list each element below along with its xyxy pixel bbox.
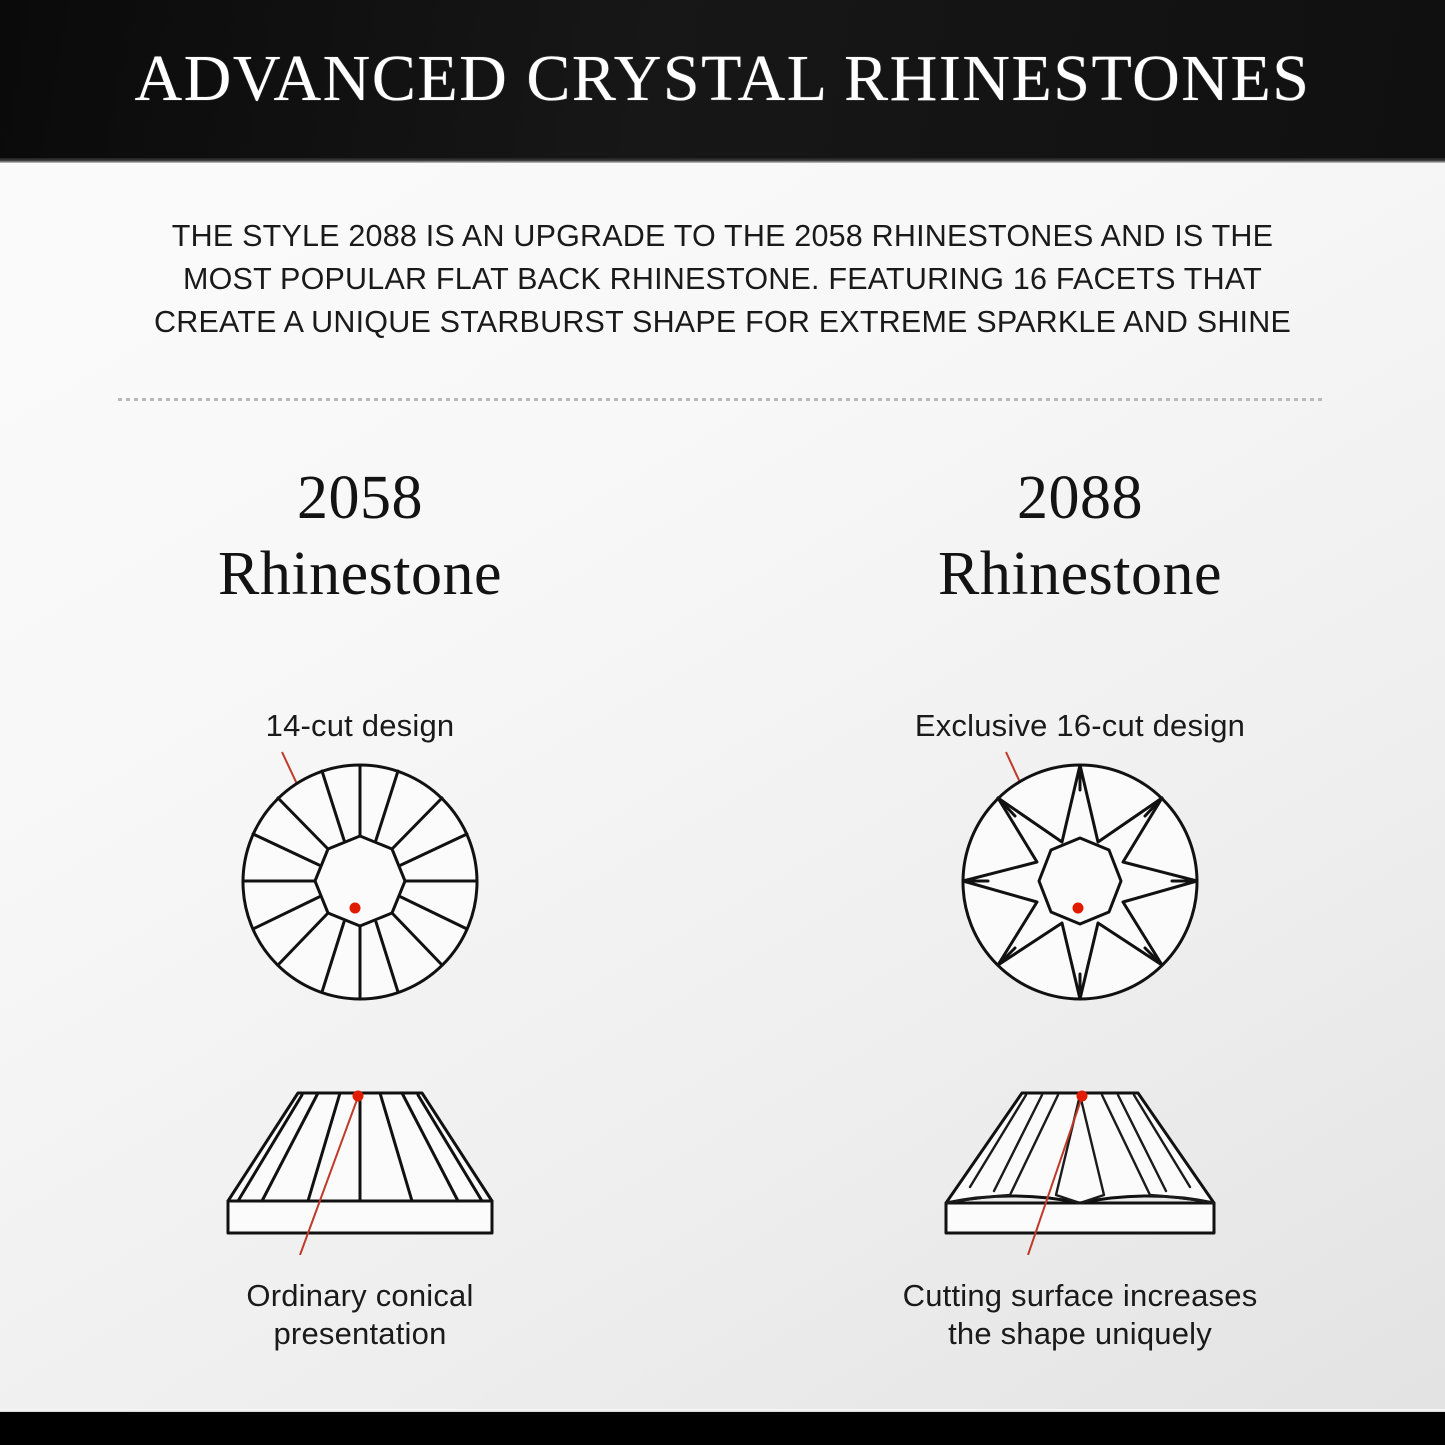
bottom-label-line-1: Cutting surface increases <box>760 1277 1400 1315</box>
crown-body-fill <box>946 1093 1214 1203</box>
leader-dot <box>1073 903 1084 914</box>
bottom-label-line-1: Ordinary conical <box>40 1277 680 1315</box>
intro-paragraph: THE STYLE 2088 IS AN UPGRADE TO THE 2058… <box>110 215 1335 344</box>
cut-label-2088: Exclusive 16-cut design <box>760 708 1400 744</box>
header-underline <box>0 158 1445 163</box>
bottom-label-line-2: presentation <box>40 1315 680 1353</box>
bottom-label-2088: Cutting surface increases the shape uniq… <box>760 1277 1400 1353</box>
base-plate-fill <box>946 1203 1214 1233</box>
column-2058: 2058 Rhinestone 14-cut design <box>40 460 680 1353</box>
page-title: ADVANCED CRYSTAL RHINESTONES <box>0 0 1445 158</box>
leader-dot <box>1077 1091 1088 1102</box>
footer-bar <box>0 1412 1445 1445</box>
bottom-label-line-2: the shape uniquely <box>760 1315 1400 1353</box>
intro-line-3: CREATE A UNIQUE STARBURST SHAPE FOR EXTR… <box>110 301 1335 344</box>
leader-dot <box>353 1091 364 1102</box>
cut-label-2058: 14-cut design <box>40 708 680 744</box>
base-plate-fill <box>228 1201 492 1233</box>
2088-side-view-svg <box>910 1075 1250 1255</box>
2058-side-view-diagram <box>40 1075 680 1255</box>
2058-top-view-svg <box>190 750 530 1015</box>
heading-word: Rhinestone <box>760 536 1400 612</box>
column-heading-2058: 2058 Rhinestone <box>40 460 680 612</box>
column-2088: 2088 Rhinestone Exclusive 16-cut design <box>760 460 1400 1353</box>
2058-side-view-svg <box>190 1075 530 1255</box>
intro-line-1: THE STYLE 2088 IS AN UPGRADE TO THE 2058… <box>110 215 1335 258</box>
2088-side-view-diagram <box>760 1075 1400 1255</box>
heading-number: 2058 <box>40 460 680 536</box>
2088-top-view-svg <box>910 750 1250 1015</box>
2088-top-view-diagram <box>760 750 1400 1015</box>
leader-dot <box>350 903 361 914</box>
dotted-divider <box>118 398 1326 401</box>
2058-top-view-diagram <box>40 750 680 1015</box>
bottom-label-2058: Ordinary conical presentation <box>40 1277 680 1353</box>
column-heading-2088: 2088 Rhinestone <box>760 460 1400 612</box>
infographic-page: ADVANCED CRYSTAL RHINESTONES THE STYLE 2… <box>0 0 1445 1445</box>
intro-line-2: MOST POPULAR FLAT BACK RHINESTONE. FEATU… <box>110 258 1335 301</box>
heading-word: Rhinestone <box>40 536 680 612</box>
heading-number: 2088 <box>760 460 1400 536</box>
